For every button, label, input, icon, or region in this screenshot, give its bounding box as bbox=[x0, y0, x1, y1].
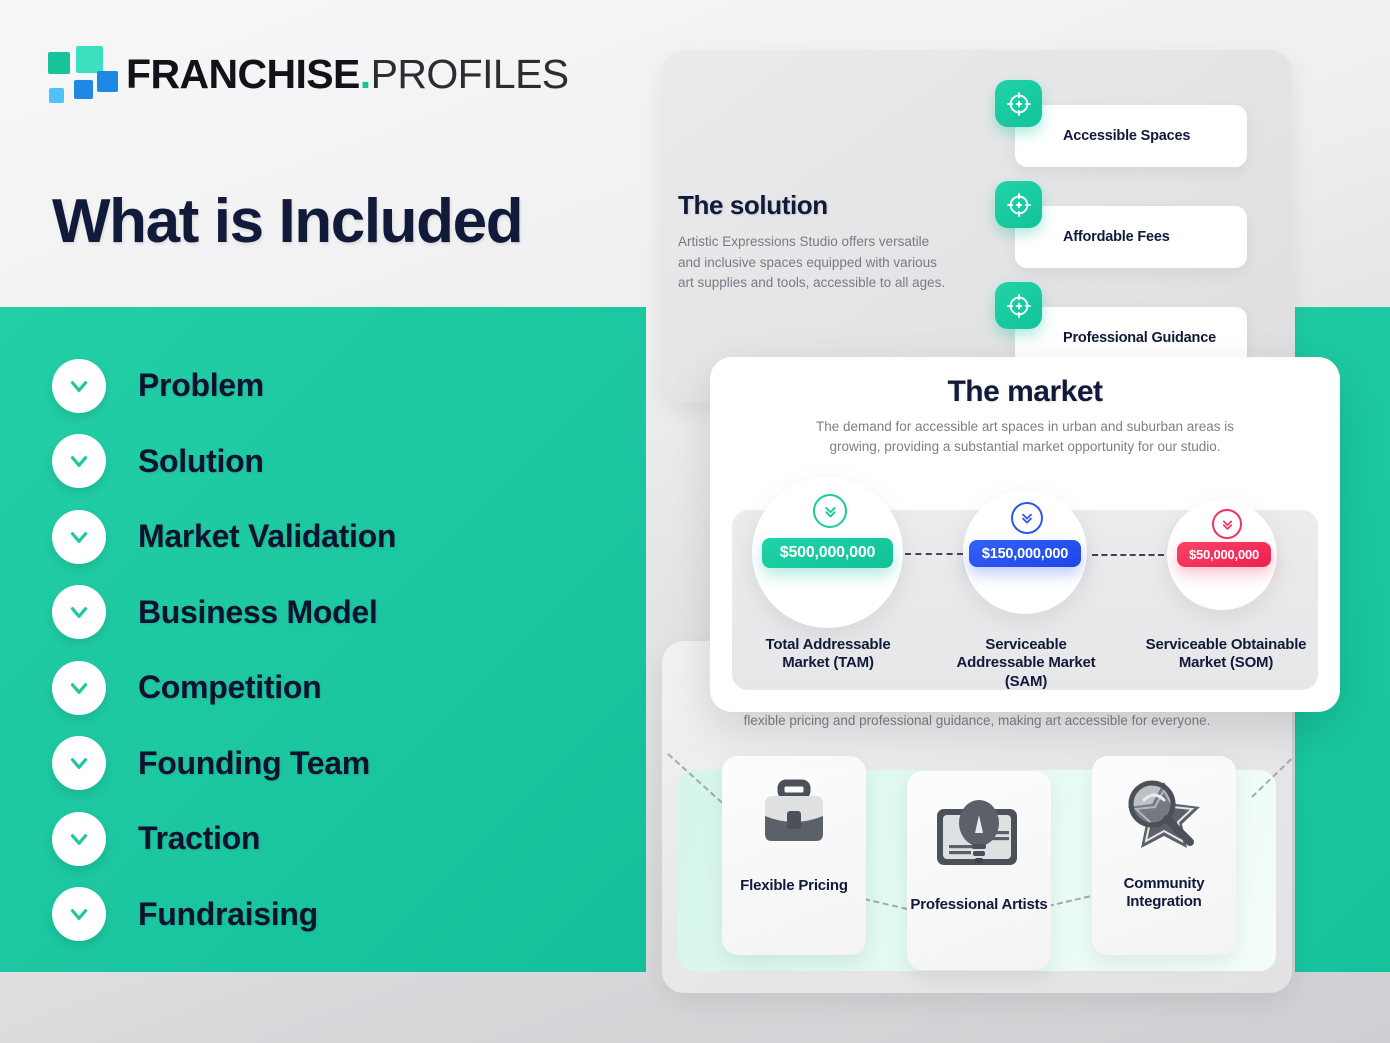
market-title: The market bbox=[710, 375, 1340, 409]
list-item-label: Business Model bbox=[138, 594, 377, 631]
solution-heading: The solution bbox=[678, 190, 828, 221]
solution-feature-card[interactable]: Accessible Spaces bbox=[1015, 105, 1247, 167]
list-item[interactable]: Business Model bbox=[52, 575, 612, 651]
list-item[interactable]: Market Validation bbox=[52, 499, 612, 575]
list-item-label: Competition bbox=[138, 669, 321, 706]
chevron-down-icon bbox=[52, 736, 106, 790]
chevron-down-icon bbox=[52, 434, 106, 488]
chevron-down-icon bbox=[52, 359, 106, 413]
benefits-subtitle: flexible pricing and professional guidan… bbox=[662, 711, 1292, 731]
market-caption: Serviceable Addressable Market (SAM) bbox=[940, 636, 1112, 691]
list-item-label: Fundraising bbox=[138, 896, 318, 933]
benefit-card[interactable]: Flexible Pricing bbox=[722, 756, 866, 955]
included-sections-list: Problem Solution Market Validation Busin… bbox=[52, 348, 612, 952]
market-value-badge: $500,000,000 bbox=[762, 538, 893, 568]
solution-feature-label: Accessible Spaces bbox=[1015, 128, 1190, 144]
solution-body: Artistic Expressions Studio offers versa… bbox=[678, 232, 954, 294]
slide-canvas: FRANCHISE.PROFILES What is Included Prob… bbox=[0, 0, 1390, 1043]
crosshair-target-icon bbox=[995, 282, 1042, 329]
brand-name-light: PROFILES bbox=[371, 51, 569, 97]
market-value-badge: $150,000,000 bbox=[969, 540, 1081, 567]
list-item[interactable]: Problem bbox=[52, 348, 612, 424]
list-item[interactable]: Fundraising bbox=[52, 877, 612, 953]
chevron-down-icon bbox=[52, 585, 106, 639]
brand-wordmark: FRANCHISE.PROFILES bbox=[126, 54, 569, 95]
list-item-label: Traction bbox=[138, 820, 260, 857]
list-item-label: Market Validation bbox=[138, 518, 396, 555]
market-caption: Serviceable Obtainable Market (SOM) bbox=[1140, 636, 1312, 673]
chevron-down-icon bbox=[52, 812, 106, 866]
lightbulb-certificate-icon bbox=[929, 793, 1029, 880]
chevron-down-icon bbox=[52, 510, 106, 564]
solution-feature-label: Affordable Fees bbox=[1015, 229, 1170, 245]
market-connector-dash bbox=[1092, 554, 1164, 556]
crosshair-target-icon bbox=[995, 80, 1042, 127]
double-chevron-down-icon bbox=[1212, 509, 1242, 539]
market-subtitle: The demand for accessible art spaces in … bbox=[815, 417, 1235, 458]
benefit-label: Community Integration bbox=[1092, 875, 1236, 912]
solution-feature-card[interactable]: Affordable Fees bbox=[1015, 206, 1247, 268]
benefit-label: Flexible Pricing bbox=[740, 877, 848, 895]
list-item-label: Founding Team bbox=[138, 745, 370, 782]
brand-dot: . bbox=[360, 51, 371, 97]
benefit-card[interactable]: Professional Artists bbox=[907, 771, 1051, 970]
chevron-down-icon bbox=[52, 661, 106, 715]
market-caption: Total Addressable Market (TAM) bbox=[742, 636, 914, 673]
benefit-card[interactable]: Community Integration bbox=[1092, 756, 1236, 955]
chevron-down-icon bbox=[52, 887, 106, 941]
list-item[interactable]: Traction bbox=[52, 801, 612, 877]
list-item-label: Problem bbox=[138, 367, 264, 404]
double-chevron-down-icon bbox=[813, 494, 847, 528]
squares-logo-icon bbox=[44, 44, 110, 104]
award-magnifier-icon bbox=[1114, 774, 1214, 861]
page-title: What is Included bbox=[52, 186, 522, 257]
double-chevron-down-icon bbox=[1011, 502, 1043, 534]
list-item[interactable]: Competition bbox=[52, 650, 612, 726]
benefit-label: Professional Artists bbox=[910, 896, 1047, 914]
crosshair-target-icon bbox=[995, 181, 1042, 228]
solution-feature-label: Professional Guidance bbox=[1015, 330, 1216, 346]
list-item[interactable]: Solution bbox=[52, 424, 612, 500]
market-connector-dash bbox=[905, 553, 963, 555]
brand-name-bold: FRANCHISE bbox=[126, 51, 360, 97]
brand-logo[interactable]: FRANCHISE.PROFILES bbox=[44, 44, 569, 104]
briefcase-icon bbox=[751, 778, 837, 861]
list-item-label: Solution bbox=[138, 443, 264, 480]
list-item[interactable]: Founding Team bbox=[52, 726, 612, 802]
market-value-badge: $50,000,000 bbox=[1177, 542, 1271, 567]
